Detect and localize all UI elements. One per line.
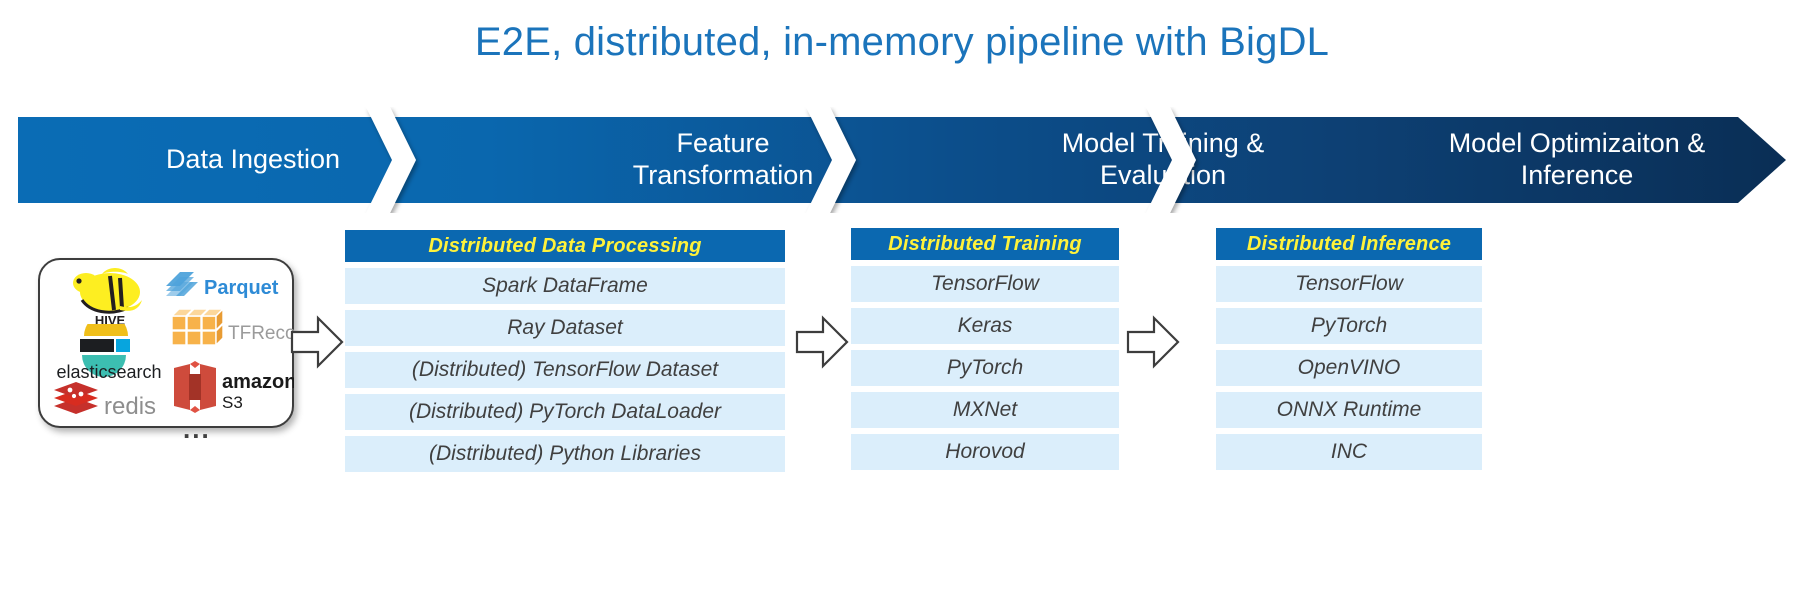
stage-label-line2: Transformation bbox=[633, 160, 814, 192]
stage-feature-transformation[interactable]: Feature Transformation bbox=[488, 117, 958, 203]
data-sources-box: HIVE Parquet elasticsearch bbox=[38, 258, 294, 428]
elasticsearch-logo: elasticsearch bbox=[48, 324, 170, 382]
table-header: Distributed Inference bbox=[1216, 228, 1482, 260]
stage-label-line2: Inference bbox=[1449, 160, 1706, 192]
pipeline-banner: Data Ingestion Feature Transformation Mo… bbox=[18, 117, 1786, 203]
page-title: E2E, distributed, in-memory pipeline wit… bbox=[0, 20, 1804, 65]
sources-ellipsis: ... bbox=[183, 414, 211, 445]
table-row[interactable]: Keras bbox=[851, 308, 1119, 344]
hive-logo: HIVE bbox=[62, 266, 158, 328]
stage-label-line1: Model Training & bbox=[1062, 128, 1265, 160]
table-row[interactable]: TensorFlow bbox=[851, 266, 1119, 302]
redis-logo-label: redis bbox=[104, 393, 156, 420]
table-distributed-inference: Distributed Inference TensorFlow PyTorch… bbox=[1216, 228, 1482, 470]
stage-data-ingestion[interactable]: Data Ingestion bbox=[18, 117, 488, 203]
table-row[interactable]: PyTorch bbox=[851, 350, 1119, 386]
tfrecord-logo: TFRecord bbox=[164, 306, 294, 358]
table-row[interactable]: TensorFlow bbox=[1216, 266, 1482, 302]
table-row[interactable]: Spark DataFrame bbox=[345, 268, 785, 304]
table-header: Distributed Data Processing bbox=[345, 230, 785, 262]
table-row[interactable]: (Distributed) Python Libraries bbox=[345, 436, 785, 472]
table-row[interactable]: OpenVINO bbox=[1216, 350, 1482, 386]
table-row[interactable]: Horovod bbox=[851, 434, 1119, 470]
stage-model-optimization-inference[interactable]: Model Optimizaiton & Inference bbox=[1368, 117, 1786, 203]
stage-label-line1: Feature bbox=[633, 128, 814, 160]
stage-label-line2: Evaluation bbox=[1062, 160, 1265, 192]
table-row[interactable]: INC bbox=[1216, 434, 1482, 470]
table-row[interactable]: (Distributed) TensorFlow Dataset bbox=[345, 352, 785, 388]
parquet-logo: Parquet bbox=[164, 270, 286, 300]
arrow-processing-to-training bbox=[795, 312, 849, 377]
tfrecord-logo-label: TFRecord bbox=[228, 323, 294, 344]
s3-logo-label: S3 bbox=[222, 393, 243, 412]
amazon-logo-label: amazon bbox=[222, 371, 294, 393]
arrow-ingestion-to-processing bbox=[290, 312, 344, 377]
stage-label: Data Ingestion bbox=[166, 144, 340, 176]
redis-logo: redis bbox=[50, 378, 180, 422]
table-row[interactable]: (Distributed) PyTorch DataLoader bbox=[345, 394, 785, 430]
table-row[interactable]: PyTorch bbox=[1216, 308, 1482, 344]
table-row[interactable]: Ray Dataset bbox=[345, 310, 785, 346]
table-header: Distributed Training bbox=[851, 228, 1119, 260]
table-row[interactable]: MXNet bbox=[851, 392, 1119, 428]
stage-model-training-evaluation[interactable]: Model Training & Evaluation bbox=[958, 117, 1368, 203]
amazon-s3-logo: amazon S3 bbox=[168, 360, 294, 418]
table-row[interactable]: ONNX Runtime bbox=[1216, 392, 1482, 428]
arrow-training-to-inference bbox=[1126, 312, 1180, 377]
stage-label-line1: Model Optimizaiton & bbox=[1449, 128, 1706, 160]
table-distributed-training: Distributed Training TensorFlow Keras Py… bbox=[851, 228, 1119, 470]
table-distributed-data-processing: Distributed Data Processing Spark DataFr… bbox=[345, 230, 785, 472]
parquet-logo-label: Parquet bbox=[204, 277, 279, 299]
